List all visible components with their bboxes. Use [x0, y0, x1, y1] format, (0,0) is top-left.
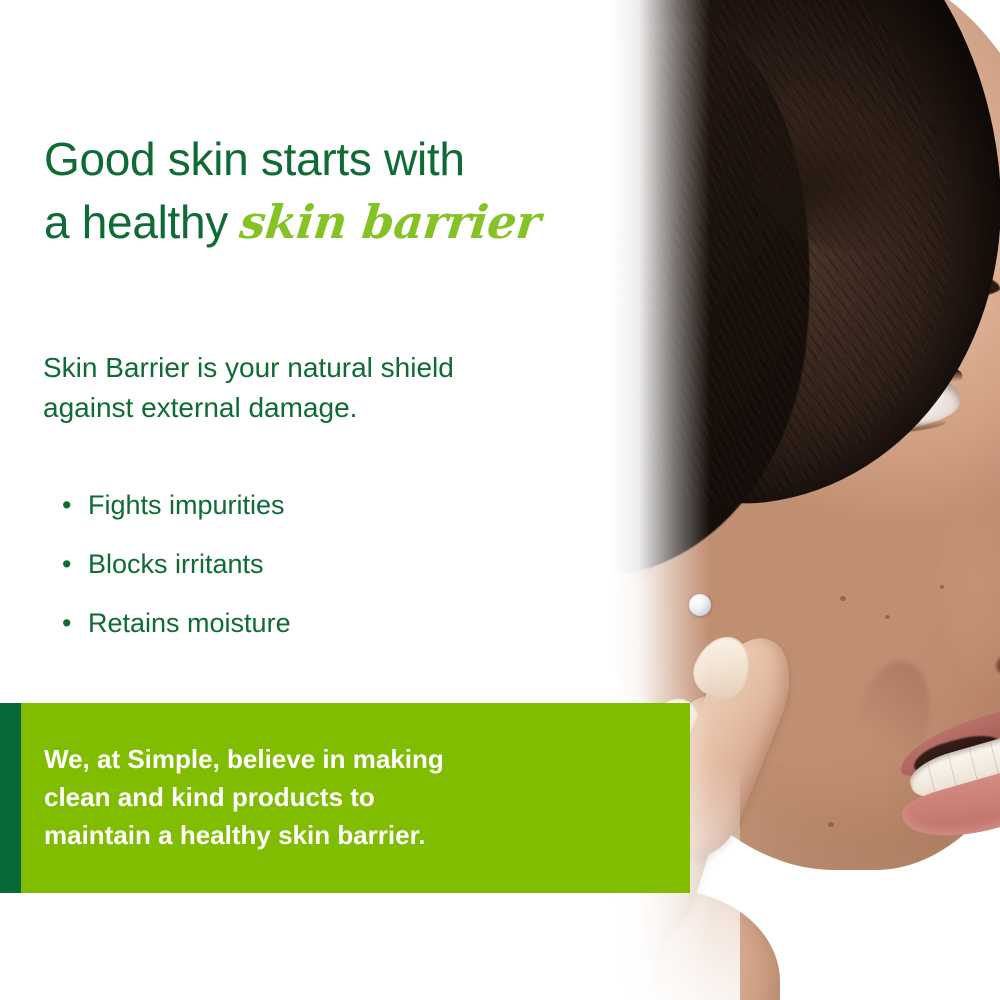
bullet-marker: •: [62, 551, 88, 578]
brand-statement-line-3: maintain a healthy skin barrier.: [44, 817, 644, 855]
benefits-list: • Fights impurities • Blocks irritants •…: [62, 492, 582, 669]
beauty-mark: [940, 585, 944, 589]
list-item-label: Fights impurities: [88, 492, 285, 519]
list-item-label: Retains moisture: [88, 610, 291, 637]
subheading-line-2: against external damage.: [43, 388, 603, 428]
list-item: • Blocks irritants: [62, 551, 582, 578]
brand-statement-line-1: We, at Simple, believe in making: [44, 741, 644, 779]
headline-line-2-plain: a healthy: [44, 196, 240, 248]
pearl-earring: [689, 594, 711, 616]
bullet-marker: •: [62, 610, 88, 637]
headline: Good skin starts with a healthy skin bar…: [44, 128, 624, 255]
list-item: • Retains moisture: [62, 610, 582, 637]
headline-line-2: a healthy skin barrier: [44, 191, 624, 254]
list-item: • Fights impurities: [62, 492, 582, 519]
headline-script-phrase: skin barrier: [237, 191, 544, 254]
beauty-mark: [885, 615, 890, 619]
subheading: Skin Barrier is your natural shield agai…: [43, 348, 603, 428]
beauty-mark: [840, 596, 846, 601]
subheading-line-1: Skin Barrier is your natural shield: [43, 348, 603, 388]
brand-statement-line-2: clean and kind products to: [44, 779, 644, 817]
banner-accent-bar: [0, 703, 21, 893]
headline-line-1: Good skin starts with: [44, 128, 624, 191]
brand-statement-text: We, at Simple, believe in making clean a…: [44, 741, 644, 855]
bullet-marker: •: [62, 492, 88, 519]
promo-banner-image: Good skin starts with a healthy skin bar…: [0, 0, 1000, 1000]
list-item-label: Blocks irritants: [88, 551, 264, 578]
